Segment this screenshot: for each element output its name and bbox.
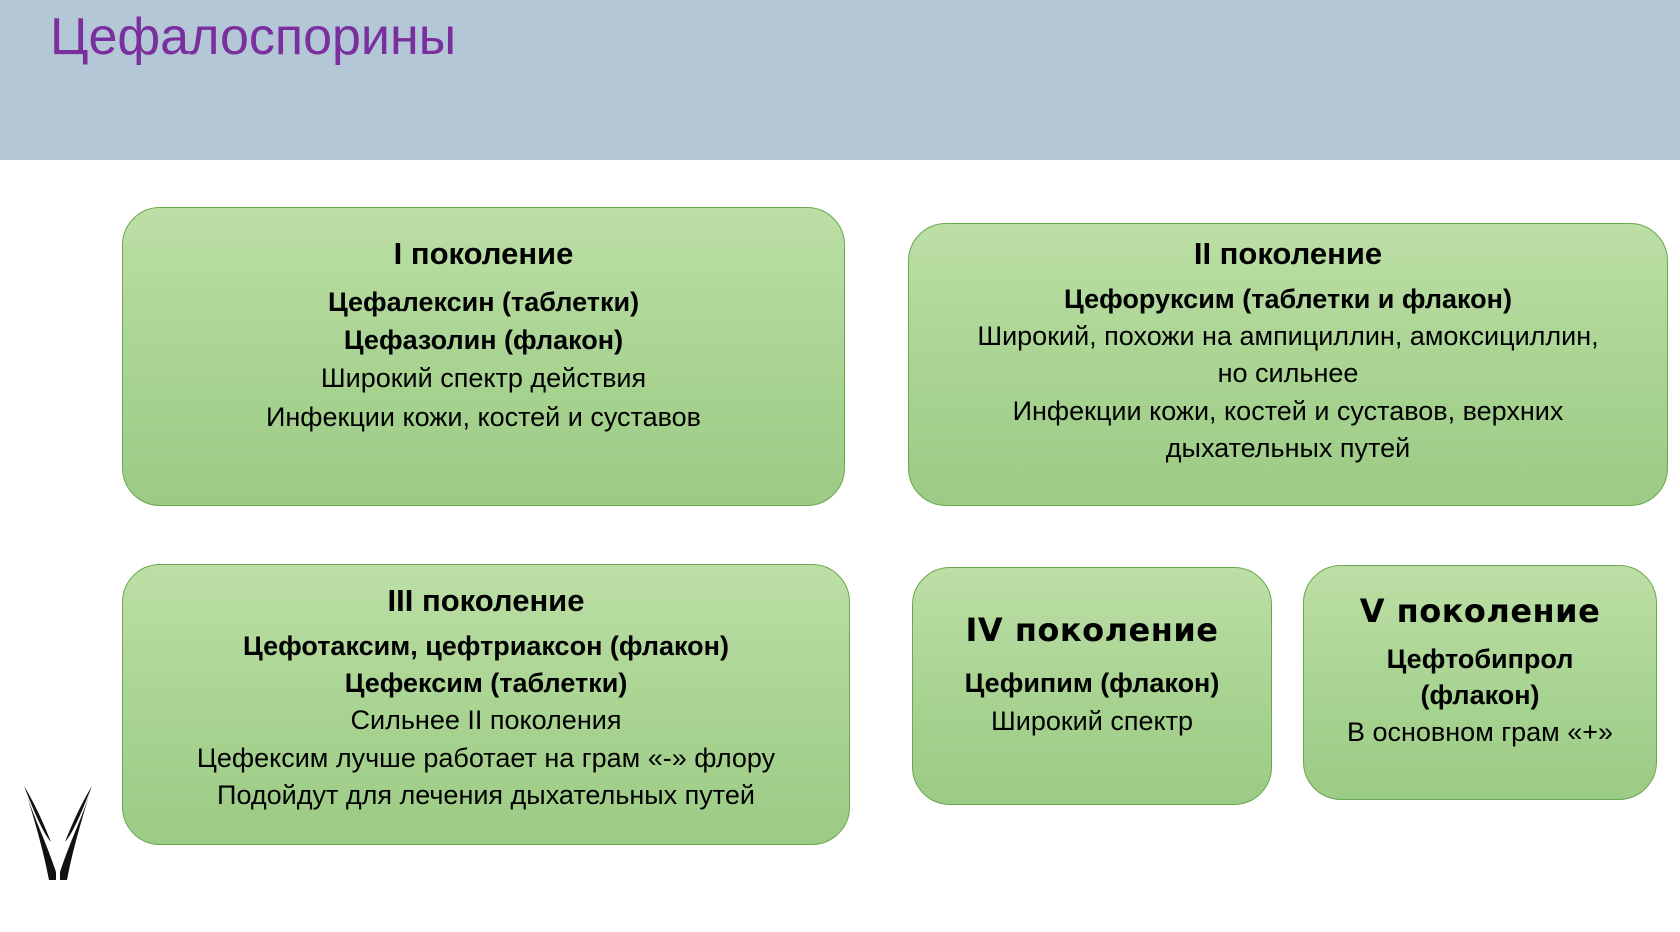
generation-card-4-line-1: Цефипим (флакон) [965, 667, 1220, 699]
generation-card-3: III поколение Цефотаксим, цефтриаксон (ф… [122, 564, 850, 845]
page-title: Цефалоспорины [50, 8, 456, 68]
generation-card-2-line-4: Инфекции кожи, костей и суставов, верхни… [1013, 395, 1564, 427]
generation-card-5-line-1: Цефтобипрол [1387, 643, 1574, 675]
generation-card-2-title: II поколение [1194, 236, 1382, 272]
generation-card-3-line-4: Цефексим лучше работает на грам «-» флор… [197, 742, 775, 774]
generation-card-4-line-2: Широкий спектр [991, 705, 1193, 737]
generation-card-5-line-3: В основном грам «+» [1347, 716, 1613, 748]
generation-card-2-line-2: Широкий, похожи на ампициллин, амоксицил… [977, 320, 1598, 352]
generation-card-2: II поколение Цефоруксим (таблетки и флак… [908, 223, 1668, 506]
generation-card-1-line-1: Цефалексин (таблетки) [328, 286, 639, 318]
generation-card-5-title: V поколение [1360, 593, 1601, 630]
generation-card-5-line-2: (флакон) [1420, 679, 1539, 711]
v-shaped-logo [18, 780, 98, 880]
title-band: Цефалоспорины [0, 0, 1680, 160]
generation-card-3-line-2: Цефексим (таблетки) [345, 667, 628, 699]
generation-card-3-title: III поколение [388, 583, 585, 619]
generation-card-4: IV поколение Цефипим (флакон) Широкий сп… [912, 567, 1272, 805]
generation-card-3-line-1: Цефотаксим, цефтриаксон (флакон) [243, 630, 729, 662]
generation-card-2-line-3: но сильнее [1218, 357, 1359, 389]
generation-card-4-title: IV поколение [966, 612, 1219, 649]
generation-card-1-title: I поколение [394, 236, 574, 272]
logo-left-leaf [24, 786, 56, 880]
generation-card-3-line-3: Сильнее II поколения [351, 704, 622, 736]
generation-card-2-line-1: Цефоруксим (таблетки и флакон) [1064, 283, 1512, 315]
generation-card-3-line-5: Подойдут для лечения дыхательных путей [217, 779, 755, 811]
generation-card-1-line-2: Цефазолин (флакон) [344, 324, 623, 356]
generation-card-1-line-4: Инфекции кожи, костей и суставов [266, 401, 701, 433]
generation-card-2-line-5: дыхательных путей [1166, 432, 1410, 464]
generation-card-1: I поколение Цефалексин (таблетки) Цефазо… [122, 207, 845, 506]
generation-card-1-line-3: Широкий спектр действия [321, 362, 646, 394]
logo-right-leaf [60, 786, 92, 880]
generation-card-5: V поколение Цефтобипрол (флакон) В основ… [1303, 565, 1657, 800]
